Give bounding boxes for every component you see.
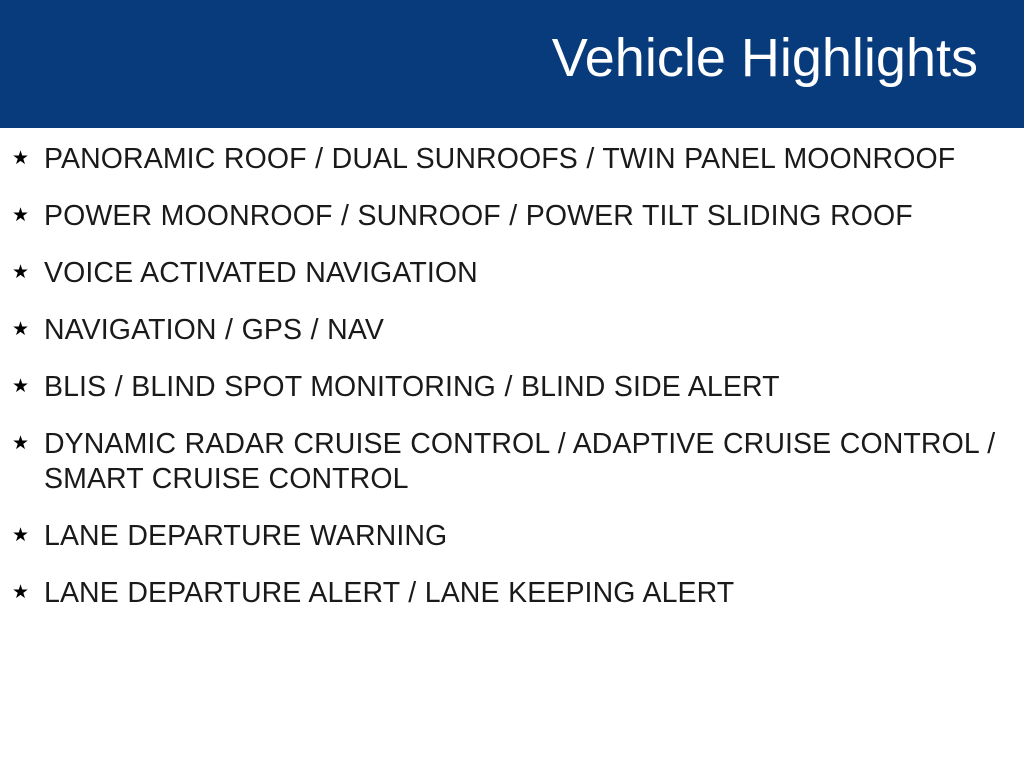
list-item: ★ NAVIGATION / GPS / NAV	[0, 313, 1024, 348]
list-item: ★ DYNAMIC RADAR CRUISE CONTROL / ADAPTIV…	[0, 427, 1024, 497]
star-bullet-icon: ★	[12, 202, 32, 228]
page-title: Vehicle Highlights	[552, 26, 978, 90]
vehicle-highlights-slide: Vehicle Highlights ★ PANORAMIC ROOF / DU…	[0, 0, 1024, 768]
star-bullet-icon: ★	[12, 522, 32, 548]
list-item-label: VOICE ACTIVATED NAVIGATION	[44, 256, 1010, 291]
list-item: ★ POWER MOONROOF / SUNROOF / POWER TILT …	[0, 199, 1024, 234]
star-bullet-icon: ★	[12, 430, 32, 456]
highlights-list: ★ PANORAMIC ROOF / DUAL SUNROOFS / TWIN …	[0, 142, 1024, 633]
list-item-label: LANE DEPARTURE ALERT / LANE KEEPING ALER…	[44, 576, 1010, 611]
list-item-label: LANE DEPARTURE WARNING	[44, 519, 1010, 554]
list-item-label: PANORAMIC ROOF / DUAL SUNROOFS / TWIN PA…	[44, 142, 1010, 177]
list-item-label: DYNAMIC RADAR CRUISE CONTROL / ADAPTIVE …	[44, 427, 1010, 497]
list-item: ★ LANE DEPARTURE ALERT / LANE KEEPING AL…	[0, 576, 1024, 611]
star-bullet-icon: ★	[12, 316, 32, 342]
list-item: ★ PANORAMIC ROOF / DUAL SUNROOFS / TWIN …	[0, 142, 1024, 177]
list-item-label: POWER MOONROOF / SUNROOF / POWER TILT SL…	[44, 199, 1010, 234]
list-item: ★ LANE DEPARTURE WARNING	[0, 519, 1024, 554]
list-item: ★ BLIS / BLIND SPOT MONITORING / BLIND S…	[0, 370, 1024, 405]
header-banner: Vehicle Highlights	[0, 0, 1024, 128]
star-bullet-icon: ★	[12, 373, 32, 399]
list-item-label: NAVIGATION / GPS / NAV	[44, 313, 1010, 348]
star-bullet-icon: ★	[12, 259, 32, 285]
star-bullet-icon: ★	[12, 579, 32, 605]
star-bullet-icon: ★	[12, 145, 32, 171]
list-item-label: BLIS / BLIND SPOT MONITORING / BLIND SID…	[44, 370, 1010, 405]
list-item: ★ VOICE ACTIVATED NAVIGATION	[0, 256, 1024, 291]
